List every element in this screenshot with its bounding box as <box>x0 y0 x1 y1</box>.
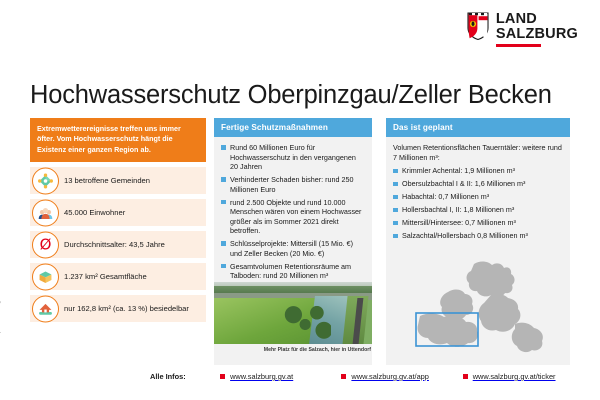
panel-body-completed: Rund 60 Millionen Euro für Hochwassersch… <box>214 137 372 290</box>
list-item: rund 2.500 Objekte und rund 10.000 Mensc… <box>221 198 365 236</box>
people-group-icon <box>32 199 59 226</box>
planned-measures-list: Krimmler Achental: 1,9 Millionen m³ Ober… <box>393 166 563 241</box>
source-credit: Stand: 17.07.2023 | Land Salzburg <box>0 301 1 372</box>
list-item: Verhinderter Schaden bisher: rund 250 Mi… <box>221 175 365 194</box>
salzburg-districts-shape <box>418 261 543 352</box>
footer-links: Alle Infos: www.salzburg.gv.at www.salzb… <box>150 372 584 381</box>
fact-label: 13 betroffene Gemeinden <box>64 176 150 185</box>
footer-link-label: www.salzburg.gv.at/ticker <box>473 372 556 381</box>
red-square-bullet-icon <box>463 374 468 379</box>
warning-banner: Extremwetterereignisse treffen uns immer… <box>30 118 206 162</box>
page-title: Hochwasserschutz Oberpinzgau/Zeller Beck… <box>30 81 580 110</box>
footer-label: Alle Infos: <box>150 372 220 381</box>
fact-label: 45.000 Einwohner <box>64 208 125 217</box>
list-item: Gesamtvolumen Retentionsräume am Talbode… <box>221 262 365 281</box>
salzburg-state-map <box>396 258 564 358</box>
fact-row: 45.000 Einwohner <box>30 199 206 226</box>
planned-intro-text: Volumen Retentionsflächen Tauerntäler: w… <box>393 143 563 162</box>
footer-link-label: www.salzburg.gv.at/app <box>351 372 429 381</box>
panel-heading-planned: Das ist geplant <box>386 118 570 137</box>
list-item: Habachtal: 0,7 Millionen m³ <box>393 192 563 202</box>
panel-body-planned: Volumen Retentionsflächen Tauerntäler: w… <box>386 137 570 250</box>
photo-caption: Mehr Platz für die Salzach, hier in Utte… <box>214 347 372 353</box>
list-item: Obersulzbachtal I & II: 1,6 Millionen m³ <box>393 179 563 189</box>
salzach-photo-block: Mehr Platz für die Salzach, hier in Utte… <box>214 282 372 353</box>
red-square-bullet-icon <box>341 374 346 379</box>
red-square-bullet-icon <box>220 374 225 379</box>
completed-measures-list: Rund 60 Millionen Euro für Hochwassersch… <box>221 143 365 281</box>
list-item: Mittersill/Hintersee: 0,7 Millionen m³ <box>393 218 563 228</box>
photo-treeline <box>284 303 331 341</box>
land-salzburg-logo: LAND SALZBURG <box>467 12 578 47</box>
fact-label: Durchschnittsalter: 43,5 Jahre <box>64 240 165 249</box>
footer-link-ticker[interactable]: www.salzburg.gv.at/ticker <box>463 372 584 381</box>
list-item: Hollersbachtal I, II: 1,8 Millionen m³ <box>393 205 563 215</box>
list-item: Salzachtal/Hollersbach 0,8 Millionen m³ <box>393 231 563 241</box>
fact-label: nur 162,8 km² (ca. 13 %) besiedelbar <box>64 304 189 313</box>
logo-red-rule <box>496 44 541 47</box>
fact-row: nur 162,8 km² (ca. 13 %) besiedelbar <box>30 295 206 322</box>
logo-line-salzburg: SALZBURG <box>496 27 578 42</box>
logo-wordmark: LAND SALZBURG <box>496 12 578 47</box>
terrain-cube-icon <box>32 263 59 290</box>
salzach-aerial-photo <box>214 282 372 344</box>
left-column: Extremwetterereignisse treffen uns immer… <box>30 118 206 322</box>
average-diameter-icon: Ø <box>32 231 59 258</box>
oe-glyph: Ø <box>40 237 52 252</box>
fact-row: 1.237 km² Gesamtfläche <box>30 263 206 290</box>
footer-link-website[interactable]: www.salzburg.gv.at <box>220 372 341 381</box>
house-on-land-icon <box>32 295 59 322</box>
list-item: Schlüsselprojekte: Mittersill (15 Mio. €… <box>221 239 365 258</box>
fact-label: 1.237 km² Gesamtfläche <box>64 272 147 281</box>
footer-link-app[interactable]: www.salzburg.gv.at/app <box>341 372 462 381</box>
logo-line-land: LAND <box>496 12 537 27</box>
list-item: Krimmler Achental: 1,9 Millionen m³ <box>393 166 563 176</box>
fact-row: Ø Durchschnittsalter: 43,5 Jahre <box>30 231 206 258</box>
list-item: Rund 60 Millionen Euro für Hochwassersch… <box>221 143 365 172</box>
municipality-network-icon <box>32 167 59 194</box>
panel-heading-completed: Fertige Schutzmaßnahmen <box>214 118 372 137</box>
footer-link-label: www.salzburg.gv.at <box>230 372 293 381</box>
fact-row: 13 betroffene Gemeinden <box>30 167 206 194</box>
salzburg-coat-of-arms-icon <box>467 12 489 40</box>
